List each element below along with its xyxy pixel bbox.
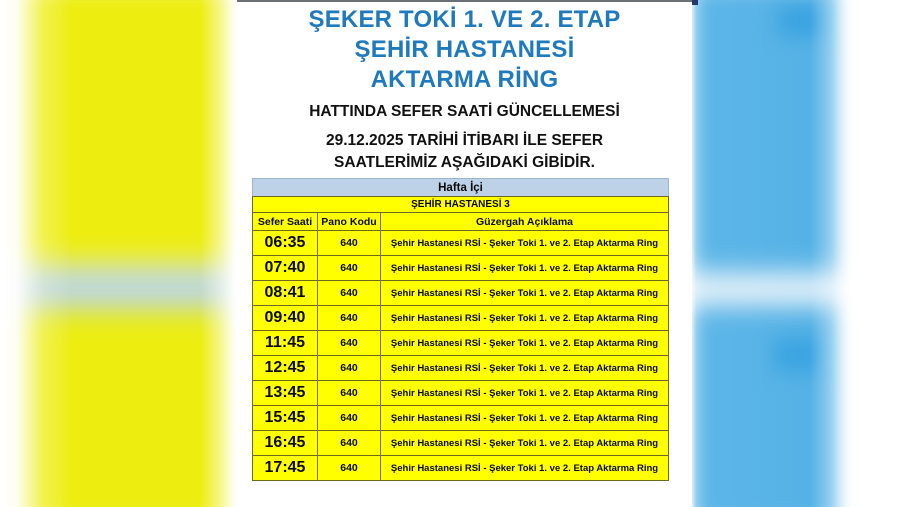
card-top-rule xyxy=(237,0,692,2)
table-row: 13:45640Şehir Hastanesi RSİ - Şeker Toki… xyxy=(253,381,669,406)
blue-panel-corner-artifact xyxy=(691,0,698,5)
cell-departure-time: 07:40 xyxy=(253,256,318,281)
cell-panel-code: 640 xyxy=(318,356,381,381)
cell-departure-time: 09:40 xyxy=(253,306,318,331)
cell-route-description: Şehir Hastanesi RSİ - Şeker Toki 1. ve 2… xyxy=(381,381,669,406)
column-header-pano-kodu: Pano Kodu xyxy=(318,213,381,231)
cell-panel-code: 640 xyxy=(318,331,381,356)
column-header-row: Sefer Saati Pano Kodu Güzergah Açıklama xyxy=(253,213,669,231)
background-right-white-fade xyxy=(690,0,900,507)
cell-departure-time: 17:45 xyxy=(253,456,318,481)
cell-departure-time: 08:41 xyxy=(253,281,318,306)
headline-line-3: AKTARMA RİNG xyxy=(237,68,692,92)
weekday-band-label: Hafta İçi xyxy=(253,179,669,197)
cell-panel-code: 640 xyxy=(318,231,381,256)
table-row: 17:45640Şehir Hastanesi RSİ - Şeker Toki… xyxy=(253,456,669,481)
cell-departure-time: 13:45 xyxy=(253,381,318,406)
cell-route-description: Şehir Hastanesi RSİ - Şeker Toki 1. ve 2… xyxy=(381,256,669,281)
column-header-sefer-saati: Sefer Saati xyxy=(253,213,318,231)
cell-route-description: Şehir Hastanesi RSİ - Şeker Toki 1. ve 2… xyxy=(381,431,669,456)
cell-departure-time: 11:45 xyxy=(253,331,318,356)
station-band-label: ŞEHİR HASTANESİ 3 xyxy=(253,197,669,213)
cell-panel-code: 640 xyxy=(318,256,381,281)
cell-departure-time: 16:45 xyxy=(253,431,318,456)
weekday-band-row: Hafta İçi xyxy=(253,179,669,197)
cell-route-description: Şehir Hastanesi RSİ - Şeker Toki 1. ve 2… xyxy=(381,406,669,431)
cell-panel-code: 640 xyxy=(318,431,381,456)
schedule-table: Hafta İçi ŞEHİR HASTANESİ 3 Sefer Saati … xyxy=(252,178,669,481)
subheadline-line-1: HATTINDA SEFER SAATİ GÜNCELLEMESİ xyxy=(237,104,692,120)
cell-panel-code: 640 xyxy=(318,406,381,431)
cell-route-description: Şehir Hastanesi RSİ - Şeker Toki 1. ve 2… xyxy=(381,456,669,481)
cell-route-description: Şehir Hastanesi RSİ - Şeker Toki 1. ve 2… xyxy=(381,356,669,381)
cell-panel-code: 640 xyxy=(318,381,381,406)
cell-departure-time: 06:35 xyxy=(253,231,318,256)
poster-card: ŞEKER TOKİ 1. VE 2. ETAP ŞEHİR HASTANESİ… xyxy=(237,0,692,507)
table-row: 08:41640Şehir Hastanesi RSİ - Şeker Toki… xyxy=(253,281,669,306)
subheadline-line-3: SAATLERİMİZ AŞAĞIDAKİ GİBİDİR. xyxy=(237,155,692,171)
cell-departure-time: 15:45 xyxy=(253,406,318,431)
background-left-blurred-panel xyxy=(0,0,237,507)
subheadline-line-2: 29.12.2025 TARİHİ İTİBARI İLE SEFER xyxy=(237,133,692,149)
column-header-guzergah-aciklama: Güzergah Açıklama xyxy=(381,213,669,231)
station-band-row: ŞEHİR HASTANESİ 3 xyxy=(253,197,669,213)
cell-route-description: Şehir Hastanesi RSİ - Şeker Toki 1. ve 2… xyxy=(381,281,669,306)
headline-line-1: ŞEKER TOKİ 1. VE 2. ETAP xyxy=(237,8,692,32)
cell-route-description: Şehir Hastanesi RSİ - Şeker Toki 1. ve 2… xyxy=(381,331,669,356)
cell-route-description: Şehir Hastanesi RSİ - Şeker Toki 1. ve 2… xyxy=(381,306,669,331)
table-row: 07:40640Şehir Hastanesi RSİ - Şeker Toki… xyxy=(253,256,669,281)
screenshot-root: ŞEKER TOKİ 1. VE 2. ETAP ŞEHİR HASTANESİ… xyxy=(0,0,900,507)
headline-line-2: ŞEHİR HASTANESİ xyxy=(237,38,692,62)
table-row: 06:35640Şehir Hastanesi RSİ - Şeker Toki… xyxy=(253,231,669,256)
cell-panel-code: 640 xyxy=(318,281,381,306)
table-row: 09:40640Şehir Hastanesi RSİ - Şeker Toki… xyxy=(253,306,669,331)
table-row: 15:45640Şehir Hastanesi RSİ - Şeker Toki… xyxy=(253,406,669,431)
table-row: 12:45640Şehir Hastanesi RSİ - Şeker Toki… xyxy=(253,356,669,381)
cell-departure-time: 12:45 xyxy=(253,356,318,381)
cell-panel-code: 640 xyxy=(318,456,381,481)
cell-panel-code: 640 xyxy=(318,306,381,331)
background-left-white-fade xyxy=(0,0,237,507)
table-row: 16:45640Şehir Hastanesi RSİ - Şeker Toki… xyxy=(253,431,669,456)
background-right-blurred-panel xyxy=(690,0,900,507)
table-row: 11:45640Şehir Hastanesi RSİ - Şeker Toki… xyxy=(253,331,669,356)
cell-route-description: Şehir Hastanesi RSİ - Şeker Toki 1. ve 2… xyxy=(381,231,669,256)
